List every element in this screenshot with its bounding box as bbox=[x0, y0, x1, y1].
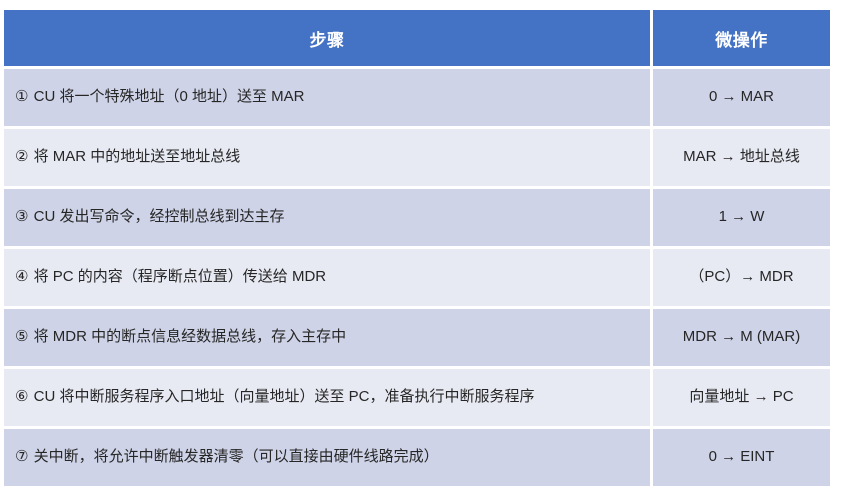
micro-operation-cell: 1 → W bbox=[653, 189, 830, 246]
step-description-text: 将 MDR 中的断点信息经数据总线，存入主存中 bbox=[34, 328, 347, 345]
table-row: ⑦ 关中断，将允许中断触发器清零（可以直接由硬件线路完成）0 → EINT bbox=[4, 429, 830, 486]
step-description-cell: ② 将 MAR 中的地址送至地址总线 bbox=[4, 129, 650, 186]
micro-operation-cell: MDR → M (MAR) bbox=[653, 309, 830, 366]
step-number-marker: ⑤ bbox=[15, 328, 28, 345]
step-number-marker: ⑦ bbox=[15, 448, 28, 465]
table-row: ③ CU 发出写命令，经控制总线到达主存1 → W bbox=[4, 189, 830, 246]
table-header: 步骤 微操作 bbox=[4, 10, 830, 66]
step-description-text: CU 发出写命令，经控制总线到达主存 bbox=[34, 208, 285, 225]
table-row: ⑥ CU 将中断服务程序入口地址（向量地址）送至 PC，准备执行中断服务程序向量… bbox=[4, 369, 830, 426]
step-description-cell: ③ CU 发出写命令，经控制总线到达主存 bbox=[4, 189, 650, 246]
step-description-cell: ⑤ 将 MDR 中的断点信息经数据总线，存入主存中 bbox=[4, 309, 650, 366]
step-description-cell: ⑥ CU 将中断服务程序入口地址（向量地址）送至 PC，准备执行中断服务程序 bbox=[4, 369, 650, 426]
table-row: ④ 将 PC 的内容（程序断点位置）传送给 MDR（PC）→ MDR bbox=[4, 249, 830, 306]
step-number-marker: ② bbox=[15, 148, 28, 165]
step-number-marker: ④ bbox=[15, 268, 28, 285]
micro-operation-cell: 向量地址 → PC bbox=[653, 369, 830, 426]
table-body: ① CU 将一个特殊地址（0 地址）送至 MAR0 → MAR② 将 MAR 中… bbox=[4, 66, 830, 486]
header-row: 步骤 微操作 bbox=[4, 10, 830, 66]
table-row: ② 将 MAR 中的地址送至地址总线MAR → 地址总线 bbox=[4, 129, 830, 186]
table-row: ① CU 将一个特殊地址（0 地址）送至 MAR0 → MAR bbox=[4, 69, 830, 126]
column-header-micro: 微操作 bbox=[653, 10, 830, 66]
steps-table-container: 步骤 微操作 ① CU 将一个特殊地址（0 地址）送至 MAR0 → MAR② … bbox=[4, 10, 830, 482]
step-number-marker: ① bbox=[15, 88, 28, 105]
micro-operation-cell: MAR → 地址总线 bbox=[653, 129, 830, 186]
step-description-text: 将 PC 的内容（程序断点位置）传送给 MDR bbox=[34, 268, 327, 285]
step-number-marker: ③ bbox=[15, 208, 28, 225]
step-description-text: CU 将一个特殊地址（0 地址）送至 MAR bbox=[34, 88, 305, 105]
step-description-text: 将 MAR 中的地址送至地址总线 bbox=[34, 148, 241, 165]
step-description-text: 关中断，将允许中断触发器清零（可以直接由硬件线路完成） bbox=[34, 448, 439, 465]
table-row: ⑤ 将 MDR 中的断点信息经数据总线，存入主存中MDR → M (MAR) bbox=[4, 309, 830, 366]
step-description-text: CU 将中断服务程序入口地址（向量地址）送至 PC，准备执行中断服务程序 bbox=[34, 388, 535, 405]
step-number-marker: ⑥ bbox=[15, 388, 28, 405]
column-header-step: 步骤 bbox=[4, 10, 650, 66]
step-description-cell: ⑦ 关中断，将允许中断触发器清零（可以直接由硬件线路完成） bbox=[4, 429, 650, 486]
step-description-cell: ④ 将 PC 的内容（程序断点位置）传送给 MDR bbox=[4, 249, 650, 306]
micro-operation-cell: 0 → MAR bbox=[653, 69, 830, 126]
micro-operation-cell: （PC）→ MDR bbox=[653, 249, 830, 306]
micro-operation-cell: 0 → EINT bbox=[653, 429, 830, 486]
step-description-cell: ① CU 将一个特殊地址（0 地址）送至 MAR bbox=[4, 69, 650, 126]
interrupt-steps-table: 步骤 微操作 ① CU 将一个特殊地址（0 地址）送至 MAR0 → MAR② … bbox=[4, 10, 830, 486]
